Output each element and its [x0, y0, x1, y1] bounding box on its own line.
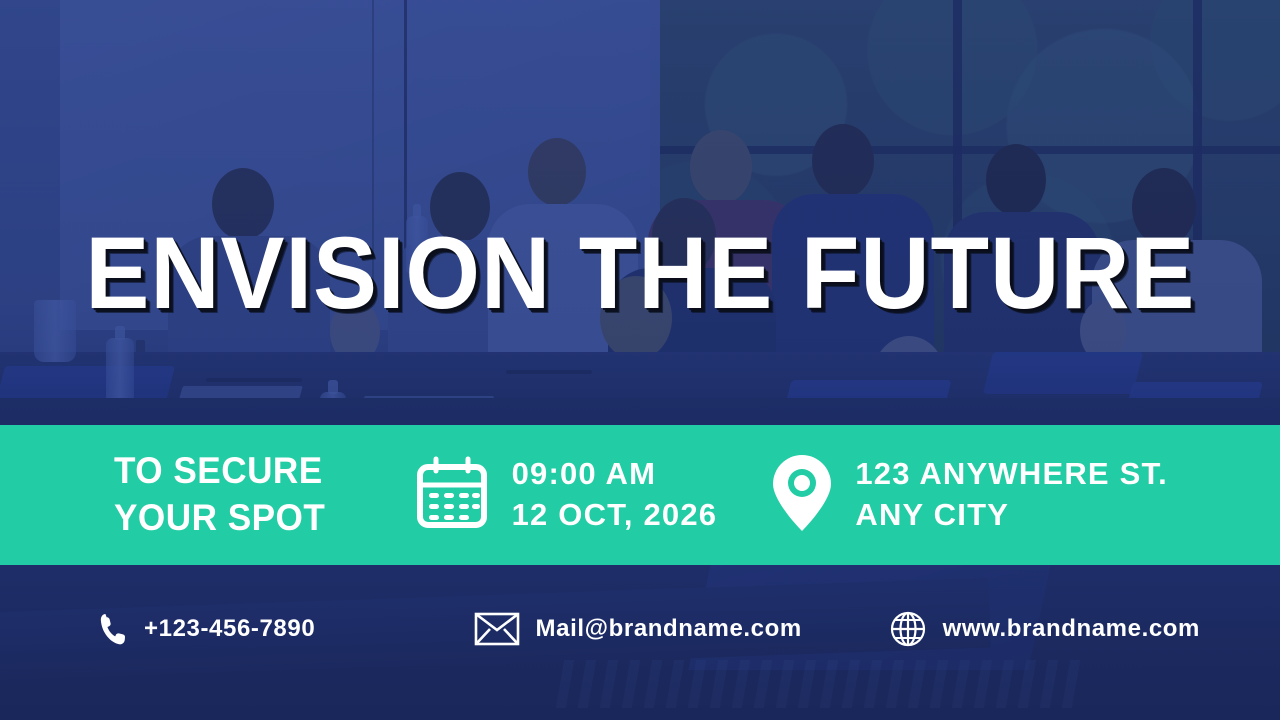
cta-line-2: YOUR SPOT — [114, 495, 325, 542]
location-pin-icon — [771, 453, 833, 538]
event-poster: ENVISION THE FUTURE TO SECURE YOUR SPOT — [0, 0, 1280, 720]
website-url: www.brandname.com — [943, 615, 1200, 643]
email-address: Mail@brandname.com — [536, 615, 802, 643]
contact-phone[interactable]: +123-456-7890 — [98, 611, 474, 647]
phone-icon — [98, 611, 128, 647]
headline-container: ENVISION THE FUTURE — [0, 222, 1280, 324]
cta-line-1: TO SECURE — [114, 448, 325, 495]
envelope-icon — [474, 612, 520, 646]
cta-block: TO SECURE YOUR SPOT — [114, 448, 414, 541]
event-date: 12 OCT, 2026 — [512, 495, 718, 536]
address-line-1: 123 ANYWHERE ST. — [855, 454, 1168, 495]
phone-number: +123-456-7890 — [144, 615, 315, 643]
location-block: 123 ANYWHERE ST. ANY CITY — [771, 453, 1168, 538]
contact-website[interactable]: www.brandname.com — [889, 610, 1200, 648]
event-info-band: TO SECURE YOUR SPOT — [0, 425, 1280, 565]
contact-email[interactable]: Mail@brandname.com — [474, 612, 889, 646]
contact-bar: +123-456-7890 Mail@brandname.com — [0, 598, 1280, 660]
event-time: 09:00 AM — [512, 454, 718, 495]
headline-text: ENVISION THE FUTURE — [85, 222, 1195, 324]
calendar-icon — [414, 455, 490, 536]
globe-icon — [889, 610, 927, 648]
address-line-2: ANY CITY — [855, 495, 1168, 536]
date-block: 09:00 AM 12 OCT, 2026 — [414, 454, 772, 536]
